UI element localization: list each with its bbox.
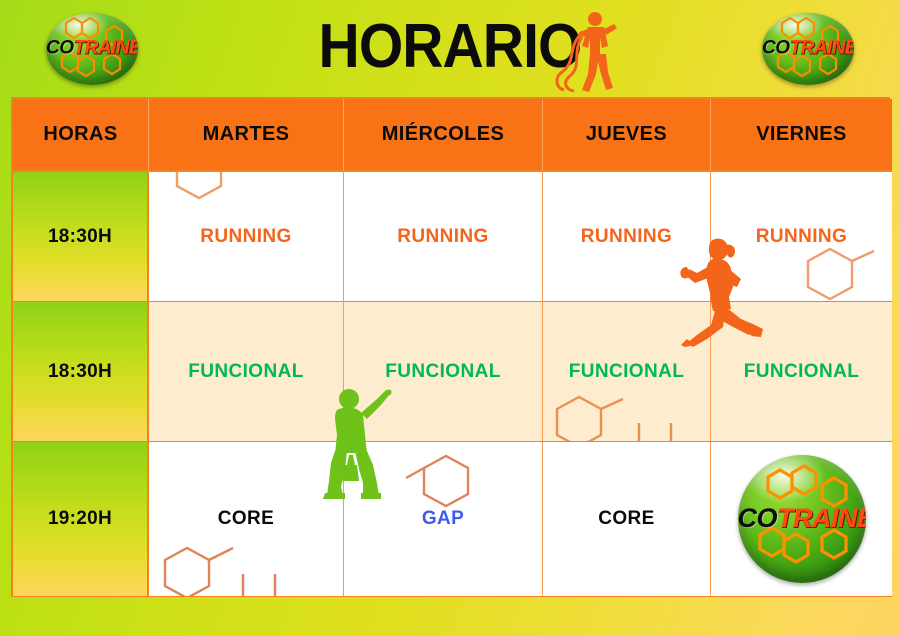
table-cell-martes-1830[interactable]: RUNNING: [149, 172, 344, 302]
hexagon-watermark-icon: [543, 375, 709, 442]
schedule-table: HORAS MARTES MIÉRCOLES JUEVES VIERNES 18…: [11, 97, 890, 597]
column-header-horas: HORAS: [13, 99, 149, 172]
hexagon-watermark-icon: [149, 172, 251, 232]
page-title: HORARIO: [36, 14, 864, 80]
column-header-jueves: JUEVES: [543, 99, 711, 172]
table-cell-miercoles-1920[interactable]: GAP: [344, 442, 543, 597]
table-cell-miercoles-1830[interactable]: RUNNING: [344, 172, 543, 302]
hour-cell: 18:30H: [13, 172, 149, 302]
cotrainer-logo-right: COTRAINER: [762, 13, 854, 85]
activity-label: FUNCIONAL: [744, 361, 859, 383]
activity-label: FUNCIONAL: [188, 361, 303, 383]
activity-label: FUNCIONAL: [385, 361, 500, 383]
table-cell-martes-1830-b[interactable]: FUNCIONAL: [149, 302, 344, 442]
logo-wordmark: COTRAINER: [738, 503, 866, 534]
logo-wordmark: COTRAINER: [762, 38, 854, 60]
activity-label: RUNNING: [200, 226, 291, 248]
table-cell-viernes-1830[interactable]: RUNNING: [711, 172, 892, 302]
table-cell-viernes-1920[interactable]: COTRAINER: [711, 442, 892, 597]
table-cell-viernes-1830-b[interactable]: FUNCIONAL: [711, 302, 892, 442]
battle-ropes-athlete-icon: [548, 10, 624, 92]
column-header-miercoles: MIÉRCOLES: [344, 99, 543, 172]
table-cell-miercoles-1830-b[interactable]: FUNCIONAL: [344, 302, 543, 442]
activity-label: RUNNING: [581, 226, 672, 248]
activity-label: RUNNING: [756, 226, 847, 248]
top-banner: COTRAINER HORARIO COTRAINER: [0, 0, 900, 97]
hour-cell: 19:20H: [13, 442, 149, 597]
table-cell-jueves-1830-b[interactable]: FUNCIONAL: [543, 302, 711, 442]
table-cell-jueves-1830[interactable]: RUNNING: [543, 172, 711, 302]
logo-text-trainer: TRAINER: [777, 503, 866, 533]
hour-cell: 18:30H: [13, 302, 149, 442]
activity-label: CORE: [218, 508, 275, 530]
table-cell-martes-1920[interactable]: CORE: [149, 442, 344, 597]
column-header-viernes: VIERNES: [711, 99, 892, 172]
cotrainer-logo-table: COTRAINER: [738, 455, 866, 583]
activity-label: RUNNING: [397, 226, 488, 248]
logo-text-co: CO: [738, 503, 778, 533]
table-cell-jueves-1920[interactable]: CORE: [543, 442, 711, 597]
logo-text-co: CO: [762, 38, 790, 59]
activity-label: GAP: [422, 508, 464, 530]
activity-label: CORE: [598, 508, 655, 530]
activity-label: FUNCIONAL: [569, 361, 684, 383]
column-header-martes: MARTES: [149, 99, 344, 172]
hexagon-watermark-icon: [149, 526, 327, 597]
logo-text-trainer: TRAINER: [790, 38, 855, 59]
